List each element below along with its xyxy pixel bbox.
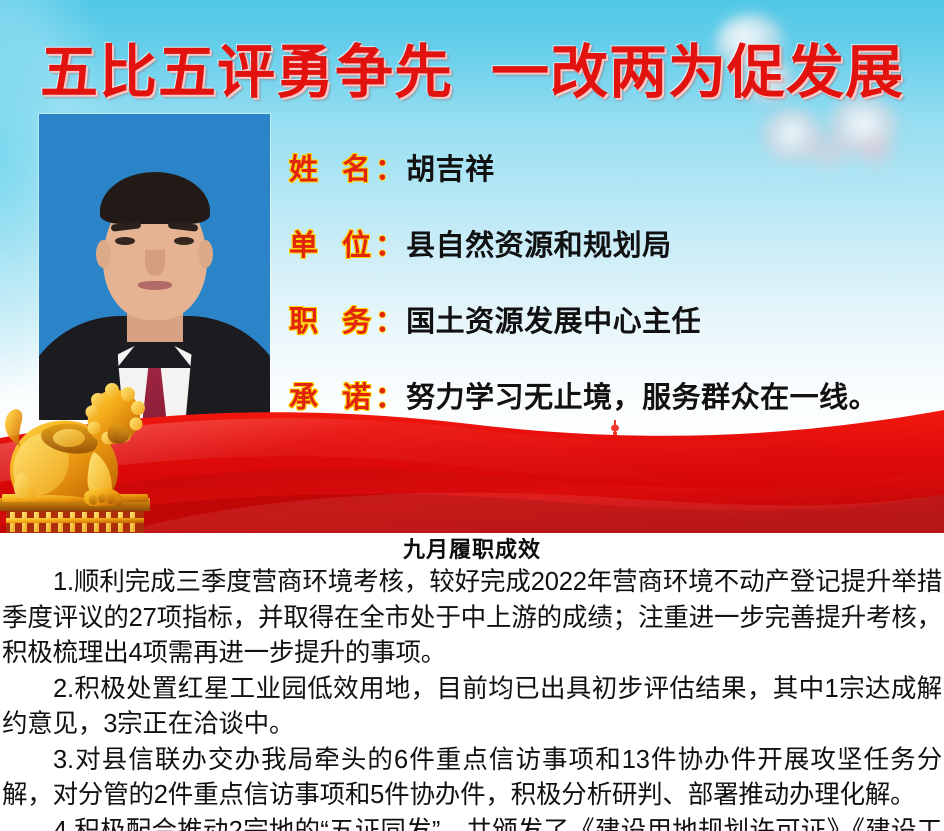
promise-poster: 五比五评勇争先一改两为促发展 姓 名 ： 胡吉祥 单 位 ： 县自然资源和规划局 (0, 0, 944, 831)
field-row-department: 单 位 ： 县自然资源和规划局 (289, 222, 929, 298)
poster-headline: 五比五评勇争先一改两为促发展 (0, 37, 944, 109)
section-title: 九月履职成效 (0, 535, 944, 565)
field-label-name: 姓 名 (289, 146, 379, 188)
portrait-ear-right (198, 240, 213, 268)
headline-left-phrase: 五比五评勇争先 (40, 40, 453, 105)
field-label-department: 单 位 (289, 222, 379, 264)
field-colon-department: ： (375, 222, 404, 264)
monthly-performance-section: 九月履职成效 1.顺利完成三季度营商环境考核，较好完成2022年营商环境不动产登… (0, 533, 944, 831)
golden-guardian-lion-statue-icon (0, 372, 158, 533)
field-row-name: 姓 名 ： 胡吉祥 (289, 146, 929, 222)
article-paragraph: 4.积极配合推动2宗地的“五证同发”，共颁发了《建设用地规划许可证》《建设工程规… (2, 814, 942, 831)
field-value-department: 县自然资源和规划局 (406, 222, 929, 264)
portrait-nose (145, 250, 165, 276)
portrait-mouth (138, 281, 172, 290)
field-colon-position: ： (375, 298, 404, 340)
section-body: 1.顺利完成三季度营商环境考核，较好完成2022年营商环境不动产登记提升举措季度… (0, 565, 944, 831)
lion-tail (5, 409, 22, 446)
field-value-name: 胡吉祥 (406, 146, 929, 188)
article-paragraph: 1.顺利完成三季度营商环境考核，较好完成2022年营商环境不动产登记提升举措季度… (2, 565, 942, 672)
lion-muzzle (108, 424, 131, 443)
field-value-position: 国土资源发展中心主任 (406, 298, 929, 340)
portrait-eye-left (115, 237, 135, 245)
lion-pedestal (0, 494, 150, 533)
field-row-position: 职 务 ： 国土资源发展中心主任 (289, 298, 929, 374)
article-paragraph: 3.对县信联办交办我局牵头的6件重点信访事项和13件协办件开展攻坚任务分解，对分… (2, 743, 942, 814)
headline-right-phrase: 一改两为促发展 (491, 40, 904, 105)
portrait-eye-right (174, 237, 194, 245)
field-colon-name: ： (375, 146, 404, 188)
portrait-hair (100, 172, 210, 224)
field-label-position: 职 务 (289, 298, 379, 340)
portrait-ear-left (96, 240, 111, 268)
article-paragraph: 2.积极处置红星工业园低效用地，目前均已出具初步评估结果，其中1宗达成解约意见，… (2, 672, 942, 743)
